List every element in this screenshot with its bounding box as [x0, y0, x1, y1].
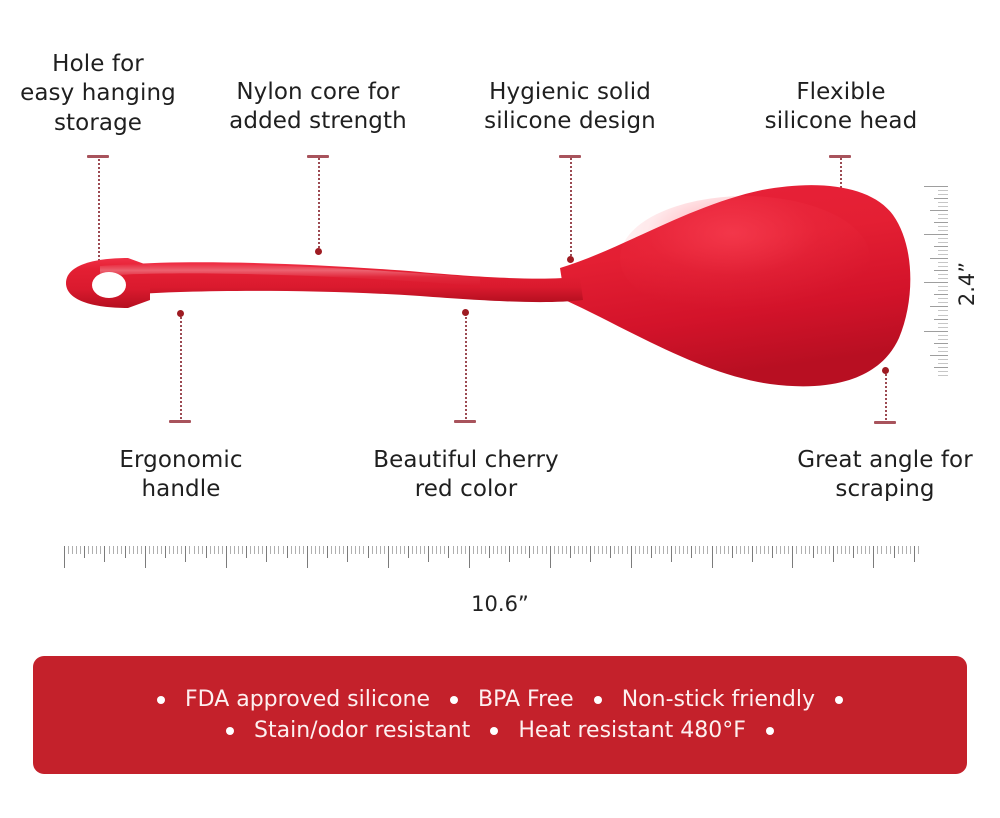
length-ruler: [64, 546, 920, 572]
ruler-tick: [505, 546, 506, 554]
ruler-tick: [647, 546, 648, 554]
hanging-hole: [92, 272, 126, 298]
feature-bullet-icon: [450, 696, 458, 704]
ruler-tick: [934, 294, 948, 295]
ruler-tick: [732, 546, 733, 558]
ruler-tick: [687, 546, 688, 554]
ruler-tick: [408, 546, 409, 558]
callout-label-ergonomic-handle: Ergonomic handle: [70, 446, 292, 505]
ruler-tick: [153, 546, 154, 554]
ruler-tick: [699, 546, 700, 554]
ruler-tick: [347, 546, 348, 562]
ruler-tick: [659, 546, 660, 554]
ruler-tick: [938, 298, 948, 299]
leader-line-ergonomic-handle: [180, 313, 181, 423]
ruler-tick: [924, 282, 948, 283]
ruler-tick: [938, 242, 948, 243]
ruler-tick: [627, 546, 628, 554]
ruler-tick: [934, 343, 948, 344]
ruler-tick: [428, 546, 429, 562]
feature-bullet-icon: [226, 727, 234, 735]
ruler-tick: [376, 546, 377, 554]
feature-banner-row-1: FDA approved siliconeBPA FreeNon-stick f…: [139, 687, 861, 712]
ruler-tick: [845, 546, 846, 554]
ruler-tick: [355, 546, 356, 554]
ruler-tick: [716, 546, 717, 554]
ruler-tick: [311, 546, 312, 554]
ruler-tick: [651, 546, 652, 558]
ruler-tick: [218, 546, 219, 554]
ruler-tick: [934, 319, 948, 320]
ruler-tick: [372, 546, 373, 554]
ruler-tick: [930, 258, 948, 259]
feature-bullet-icon: [490, 727, 498, 735]
ruler-tick: [469, 546, 470, 568]
ruler-tick: [145, 546, 146, 568]
ruler-tick: [485, 546, 486, 554]
ruler-tick: [113, 546, 114, 554]
ruler-tick: [837, 546, 838, 554]
ruler-tick: [562, 546, 563, 554]
feature-item: Stain/odor resistant: [252, 718, 472, 743]
ruler-tick: [194, 546, 195, 554]
ruler-tick: [481, 546, 482, 554]
ruler-tick: [877, 546, 878, 554]
feature-banner: FDA approved siliconeBPA FreeNon-stick f…: [33, 656, 967, 774]
ruler-tick: [242, 546, 243, 554]
ruler-tick: [938, 278, 948, 279]
ruler-tick: [189, 546, 190, 554]
ruler-tick: [924, 186, 948, 187]
ruler-tick: [404, 546, 405, 554]
leader-cap: [454, 420, 476, 423]
ruler-tick: [210, 546, 211, 554]
ruler-tick: [177, 546, 178, 554]
ruler-tick: [938, 190, 948, 191]
ruler-tick: [270, 546, 271, 554]
ruler-tick: [675, 546, 676, 554]
ruler-tick: [938, 347, 948, 348]
ruler-tick: [262, 546, 263, 554]
ruler-tick: [489, 546, 490, 558]
ruler-tick: [214, 546, 215, 554]
ruler-tick: [291, 546, 292, 554]
ruler-tick: [141, 546, 142, 554]
ruler-tick: [416, 546, 417, 554]
ruler-tick: [602, 546, 603, 554]
ruler-tick: [400, 546, 401, 554]
ruler-tick: [938, 302, 948, 303]
ruler-tick: [938, 218, 948, 219]
ruler-tick: [938, 262, 948, 263]
ruler-tick: [246, 546, 247, 558]
ruler-tick: [586, 546, 587, 554]
ruler-tick: [724, 546, 725, 554]
ruler-tick: [894, 546, 895, 558]
ruler-tick: [748, 546, 749, 554]
ruler-tick: [465, 546, 466, 554]
ruler-tick: [392, 546, 393, 554]
ruler-tick: [833, 546, 834, 562]
ruler-tick: [805, 546, 806, 554]
ruler-tick: [938, 206, 948, 207]
ruler-tick: [918, 546, 919, 554]
ruler-tick: [173, 546, 174, 554]
ruler-tick: [873, 546, 874, 568]
ruler-tick: [384, 546, 385, 554]
ruler-tick: [396, 546, 397, 554]
ruler-tick: [64, 546, 65, 568]
spoon-head-sheen: [620, 196, 870, 320]
feature-item: Non-stick friendly: [620, 687, 817, 712]
ruler-tick: [420, 546, 421, 554]
ruler-tick: [88, 546, 89, 554]
ruler-tick: [570, 546, 571, 558]
ruler-tick: [542, 546, 543, 554]
ruler-tick: [509, 546, 510, 562]
ruler-tick: [938, 274, 948, 275]
leader-dot: [177, 310, 184, 317]
ruler-tick: [938, 194, 948, 195]
ruler-tick: [776, 546, 777, 554]
feature-item: FDA approved silicone: [183, 687, 432, 712]
ruler-tick: [618, 546, 619, 554]
ruler-tick: [914, 546, 915, 562]
feature-banner-row-2: Stain/odor resistantHeat resistant 480°F: [208, 718, 792, 743]
ruler-tick: [319, 546, 320, 554]
ruler-tick: [424, 546, 425, 554]
ruler-tick: [339, 546, 340, 554]
ruler-tick: [343, 546, 344, 554]
ruler-tick: [906, 546, 907, 554]
ruler-tick: [934, 270, 948, 271]
feature-bullet-icon: [157, 696, 165, 704]
ruler-tick: [72, 546, 73, 554]
leader-cap: [169, 420, 191, 423]
ruler-tick: [234, 546, 235, 554]
ruler-tick: [521, 546, 522, 554]
ruler-tick: [92, 546, 93, 554]
ruler-tick: [537, 546, 538, 554]
ruler-tick: [639, 546, 640, 554]
ruler-tick: [635, 546, 636, 554]
ruler-tick: [157, 546, 158, 554]
ruler-tick: [938, 371, 948, 372]
ruler-tick: [501, 546, 502, 554]
ruler-tick: [335, 546, 336, 554]
ruler-tick: [752, 546, 753, 562]
ruler-tick: [703, 546, 704, 554]
ruler-tick: [924, 331, 948, 332]
leader-dot: [462, 309, 469, 316]
ruler-tick: [938, 226, 948, 227]
ruler-tick: [720, 546, 721, 554]
ruler-tick: [938, 315, 948, 316]
ruler-tick: [744, 546, 745, 554]
ruler-tick: [938, 254, 948, 255]
ruler-tick: [764, 546, 765, 554]
ruler-tick: [712, 546, 713, 568]
ruler-tick: [96, 546, 97, 554]
ruler-tick: [631, 546, 632, 568]
ruler-tick: [841, 546, 842, 554]
ruler-tick: [206, 546, 207, 558]
ruler-tick: [440, 546, 441, 554]
ruler-tick: [181, 546, 182, 554]
ruler-tick: [606, 546, 607, 554]
ruler-tick: [161, 546, 162, 554]
ruler-tick: [938, 202, 948, 203]
ruler-tick: [351, 546, 352, 554]
ruler-tick: [363, 546, 364, 554]
ruler-tick: [574, 546, 575, 554]
ruler-tick: [728, 546, 729, 554]
ruler-tick: [821, 546, 822, 554]
ruler-tick: [185, 546, 186, 562]
ruler-tick: [550, 546, 551, 568]
ruler-tick: [129, 546, 130, 554]
feature-bullet-icon: [594, 696, 602, 704]
ruler-tick: [780, 546, 781, 554]
ruler-tick: [578, 546, 579, 554]
height-measurement-label: 2.4”: [955, 254, 979, 314]
ruler-tick: [813, 546, 814, 558]
ruler-tick: [898, 546, 899, 554]
product-infographic: Hole for easy hanging storage Nylon core…: [0, 0, 1000, 818]
ruler-tick: [331, 546, 332, 554]
ruler-tick: [756, 546, 757, 554]
ruler-tick: [473, 546, 474, 554]
ruler-tick: [934, 246, 948, 247]
ruler-tick: [924, 234, 948, 235]
ruler-tick: [590, 546, 591, 562]
ruler-tick: [930, 355, 948, 356]
ruler-tick: [829, 546, 830, 554]
leader-cap: [874, 421, 896, 424]
ruler-tick: [796, 546, 797, 554]
ruler-tick: [278, 546, 279, 554]
ruler-tick: [359, 546, 360, 554]
ruler-tick: [902, 546, 903, 554]
ruler-tick: [890, 546, 891, 554]
ruler-tick: [582, 546, 583, 554]
ruler-tick: [707, 546, 708, 554]
ruler-tick: [938, 363, 948, 364]
ruler-tick: [283, 546, 284, 554]
ruler-tick: [938, 286, 948, 287]
ruler-tick: [610, 546, 611, 558]
ruler-tick: [801, 546, 802, 554]
ruler-tick: [809, 546, 810, 554]
height-ruler: [922, 186, 948, 376]
ruler-tick: [287, 546, 288, 558]
ruler-tick: [222, 546, 223, 554]
ruler-tick: [655, 546, 656, 554]
ruler-tick: [792, 546, 793, 568]
ruler-tick: [938, 359, 948, 360]
ruler-tick: [760, 546, 761, 554]
ruler-tick: [930, 306, 948, 307]
ruler-tick: [930, 210, 948, 211]
ruler-tick: [671, 546, 672, 562]
ruler-tick: [104, 546, 105, 562]
ruler-tick: [327, 546, 328, 558]
ruler-tick: [323, 546, 324, 554]
ruler-tick: [315, 546, 316, 554]
ruler-tick: [594, 546, 595, 554]
ruler-tick: [517, 546, 518, 554]
ruler-tick: [368, 546, 369, 558]
ruler-tick: [453, 546, 454, 554]
ruler-tick: [853, 546, 854, 558]
ruler-tick: [558, 546, 559, 554]
ruler-tick: [861, 546, 862, 554]
feature-bullet-icon: [835, 696, 843, 704]
ruler-tick: [869, 546, 870, 554]
ruler-tick: [865, 546, 866, 554]
ruler-tick: [546, 546, 547, 554]
ruler-tick: [169, 546, 170, 554]
ruler-tick: [254, 546, 255, 554]
ruler-tick: [513, 546, 514, 554]
ruler-tick: [886, 546, 887, 554]
ruler-tick: [100, 546, 101, 554]
ruler-tick: [788, 546, 789, 554]
ruler-tick: [881, 546, 882, 554]
ruler-tick: [121, 546, 122, 554]
ruler-tick: [198, 546, 199, 554]
ruler-tick: [274, 546, 275, 554]
ruler-tick: [109, 546, 110, 554]
ruler-tick: [938, 266, 948, 267]
ruler-tick: [817, 546, 818, 554]
ruler-tick: [202, 546, 203, 554]
ruler-tick: [910, 546, 911, 554]
ruler-tick: [117, 546, 118, 554]
ruler-tick: [388, 546, 389, 568]
callout-label-great-angle-for-scraping: Great angle for scraping: [770, 446, 1000, 505]
ruler-tick: [457, 546, 458, 554]
ruler-tick: [493, 546, 494, 554]
ruler-tick: [258, 546, 259, 554]
ruler-tick: [740, 546, 741, 554]
leader-line-great-angle-scraping: [885, 370, 886, 424]
ruler-tick: [598, 546, 599, 554]
ruler-tick: [525, 546, 526, 554]
leader-stem: [180, 313, 182, 423]
ruler-tick: [691, 546, 692, 558]
ruler-tick: [238, 546, 239, 554]
ruler-tick: [497, 546, 498, 554]
ruler-tick: [566, 546, 567, 554]
ruler-tick: [614, 546, 615, 554]
ruler-tick: [938, 214, 948, 215]
ruler-tick: [736, 546, 737, 554]
ruler-tick: [938, 230, 948, 231]
ruler-tick: [68, 546, 69, 554]
leader-stem: [465, 312, 467, 423]
ruler-tick: [230, 546, 231, 554]
ruler-tick: [250, 546, 251, 554]
length-measurement-label: 10.6”: [440, 592, 560, 616]
ruler-tick: [299, 546, 300, 554]
ruler-tick: [938, 290, 948, 291]
leader-stem: [885, 370, 887, 424]
ruler-tick: [307, 546, 308, 568]
ruler-tick: [149, 546, 150, 554]
ruler-tick: [133, 546, 134, 554]
ruler-tick: [165, 546, 166, 558]
ruler-tick: [643, 546, 644, 554]
ruler-tick: [554, 546, 555, 554]
feature-item: Heat resistant 480°F: [516, 718, 748, 743]
ruler-tick: [934, 222, 948, 223]
ruler-tick: [825, 546, 826, 554]
ruler-tick: [683, 546, 684, 554]
ruler-tick: [938, 375, 948, 376]
ruler-tick: [934, 367, 948, 368]
ruler-tick: [772, 546, 773, 558]
ruler-tick: [784, 546, 785, 554]
ruler-tick: [938, 339, 948, 340]
ruler-tick: [938, 323, 948, 324]
ruler-tick: [412, 546, 413, 554]
ruler-tick: [938, 335, 948, 336]
ruler-tick: [295, 546, 296, 554]
ruler-tick: [436, 546, 437, 554]
ruler-tick: [125, 546, 126, 558]
ruler-tick: [529, 546, 530, 558]
ruler-tick: [667, 546, 668, 554]
ruler-tick: [938, 327, 948, 328]
ruler-tick: [849, 546, 850, 554]
leader-line-cherry-red-color: [465, 312, 466, 423]
leader-dot: [882, 367, 889, 374]
ruler-tick: [461, 546, 462, 554]
ruler-tick: [266, 546, 267, 562]
ruler-tick: [380, 546, 381, 554]
ruler-tick: [448, 546, 449, 558]
ruler-tick: [432, 546, 433, 554]
ruler-tick: [137, 546, 138, 554]
callout-label-beautiful-cherry-red-color: Beautiful cherry red color: [350, 446, 582, 505]
ruler-tick: [695, 546, 696, 554]
ruler-tick: [938, 250, 948, 251]
ruler-tick: [934, 198, 948, 199]
ruler-tick: [679, 546, 680, 554]
ruler-tick: [533, 546, 534, 554]
ruler-tick: [622, 546, 623, 554]
ruler-tick: [663, 546, 664, 554]
ruler-tick: [303, 546, 304, 554]
ruler-tick: [226, 546, 227, 568]
ruler-tick: [477, 546, 478, 554]
ruler-tick: [857, 546, 858, 554]
ruler-tick: [80, 546, 81, 554]
ruler-tick: [444, 546, 445, 554]
feature-item: BPA Free: [476, 687, 576, 712]
ruler-tick: [768, 546, 769, 554]
ruler-tick: [938, 238, 948, 239]
ruler-tick: [938, 310, 948, 311]
feature-bullet-icon: [766, 727, 774, 735]
ruler-tick: [76, 546, 77, 554]
ruler-tick: [84, 546, 85, 558]
ruler-tick: [938, 351, 948, 352]
